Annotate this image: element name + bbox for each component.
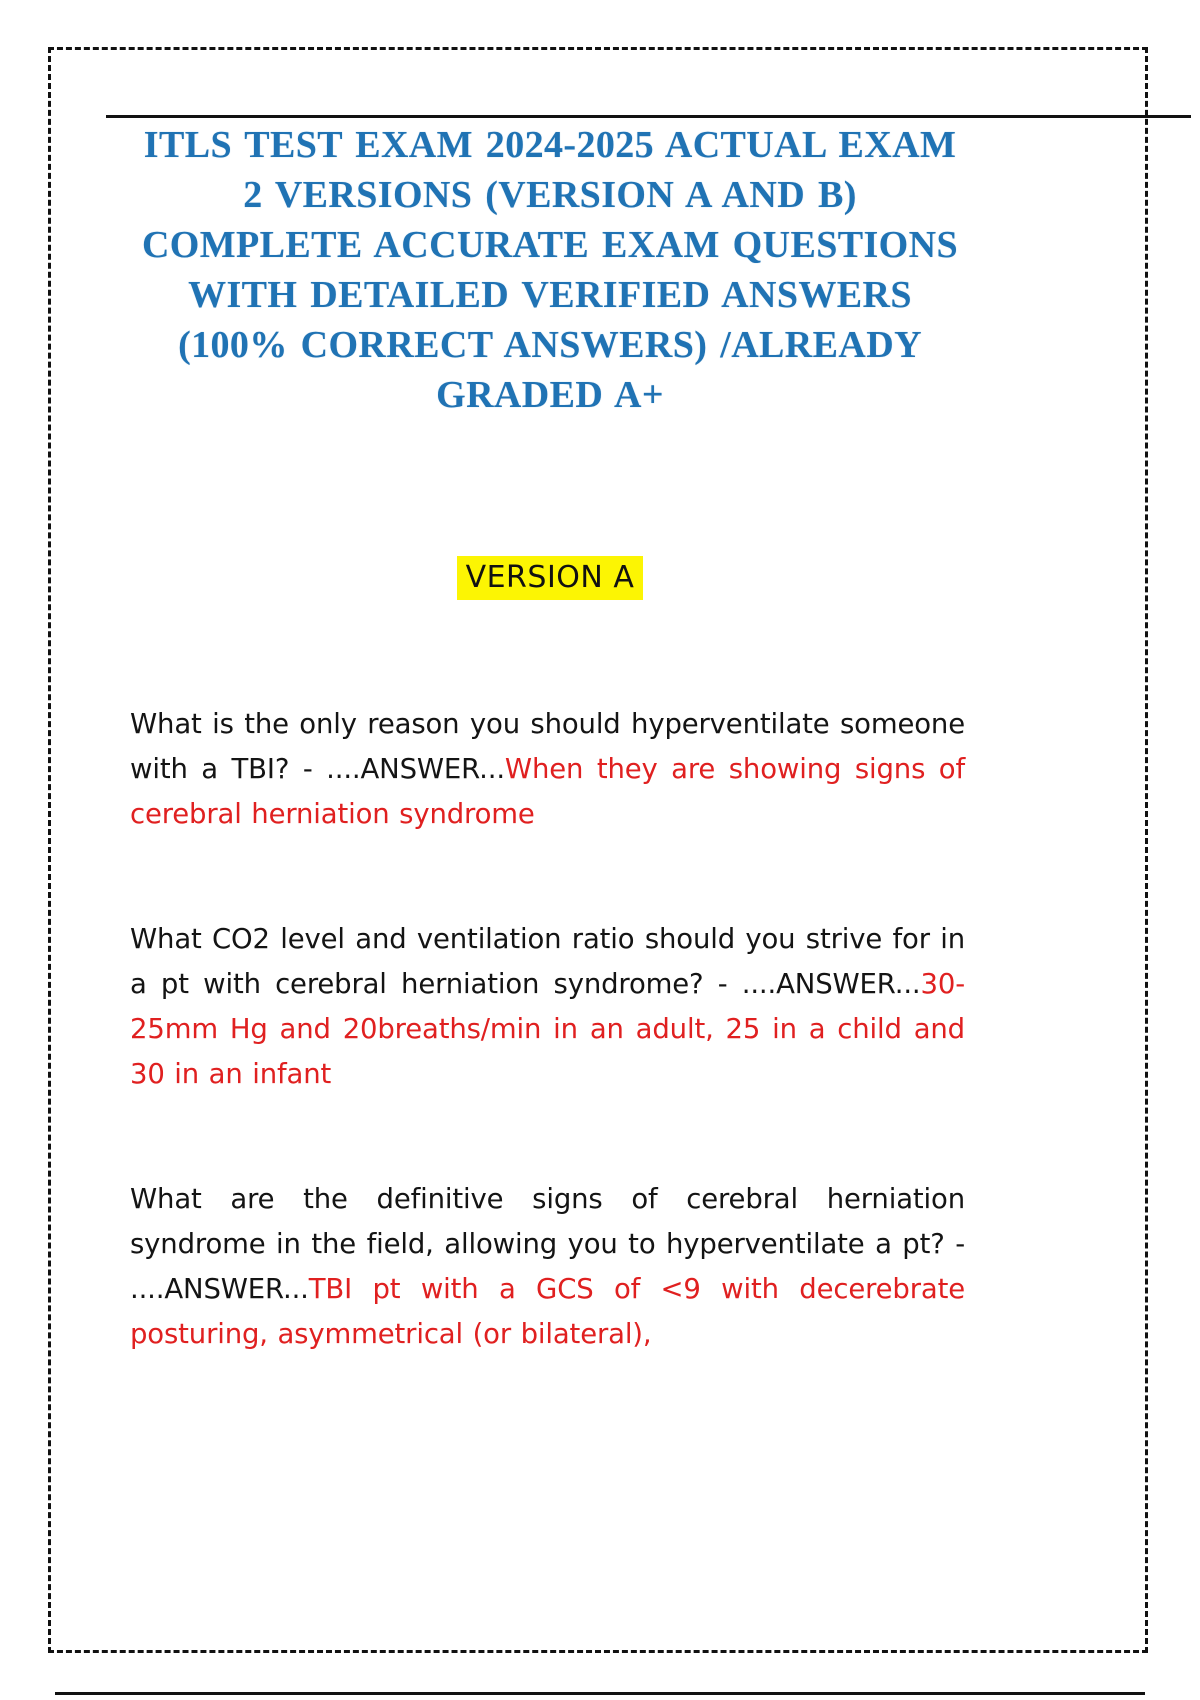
version-badge: VERSION A <box>457 556 644 600</box>
document-content: ITLS TEST EXAM 2024-2025 ACTUAL EXAM 2 V… <box>130 120 970 1357</box>
qa-question: What CO2 level and ventilation ratio sho… <box>130 923 965 1000</box>
qa-list: What is the only reason you should hyper… <box>130 702 970 1357</box>
page-title: ITLS TEST EXAM 2024-2025 ACTUAL EXAM 2 V… <box>130 120 970 420</box>
qa-item: What are the definitive signs of cerebra… <box>130 1177 965 1357</box>
header-rule <box>106 115 1191 118</box>
version-banner-row: VERSION A <box>130 556 970 604</box>
qa-item: What CO2 level and ventilation ratio sho… <box>130 917 965 1097</box>
qa-item: What is the only reason you should hyper… <box>130 702 965 837</box>
footer-rule <box>55 1692 1145 1695</box>
